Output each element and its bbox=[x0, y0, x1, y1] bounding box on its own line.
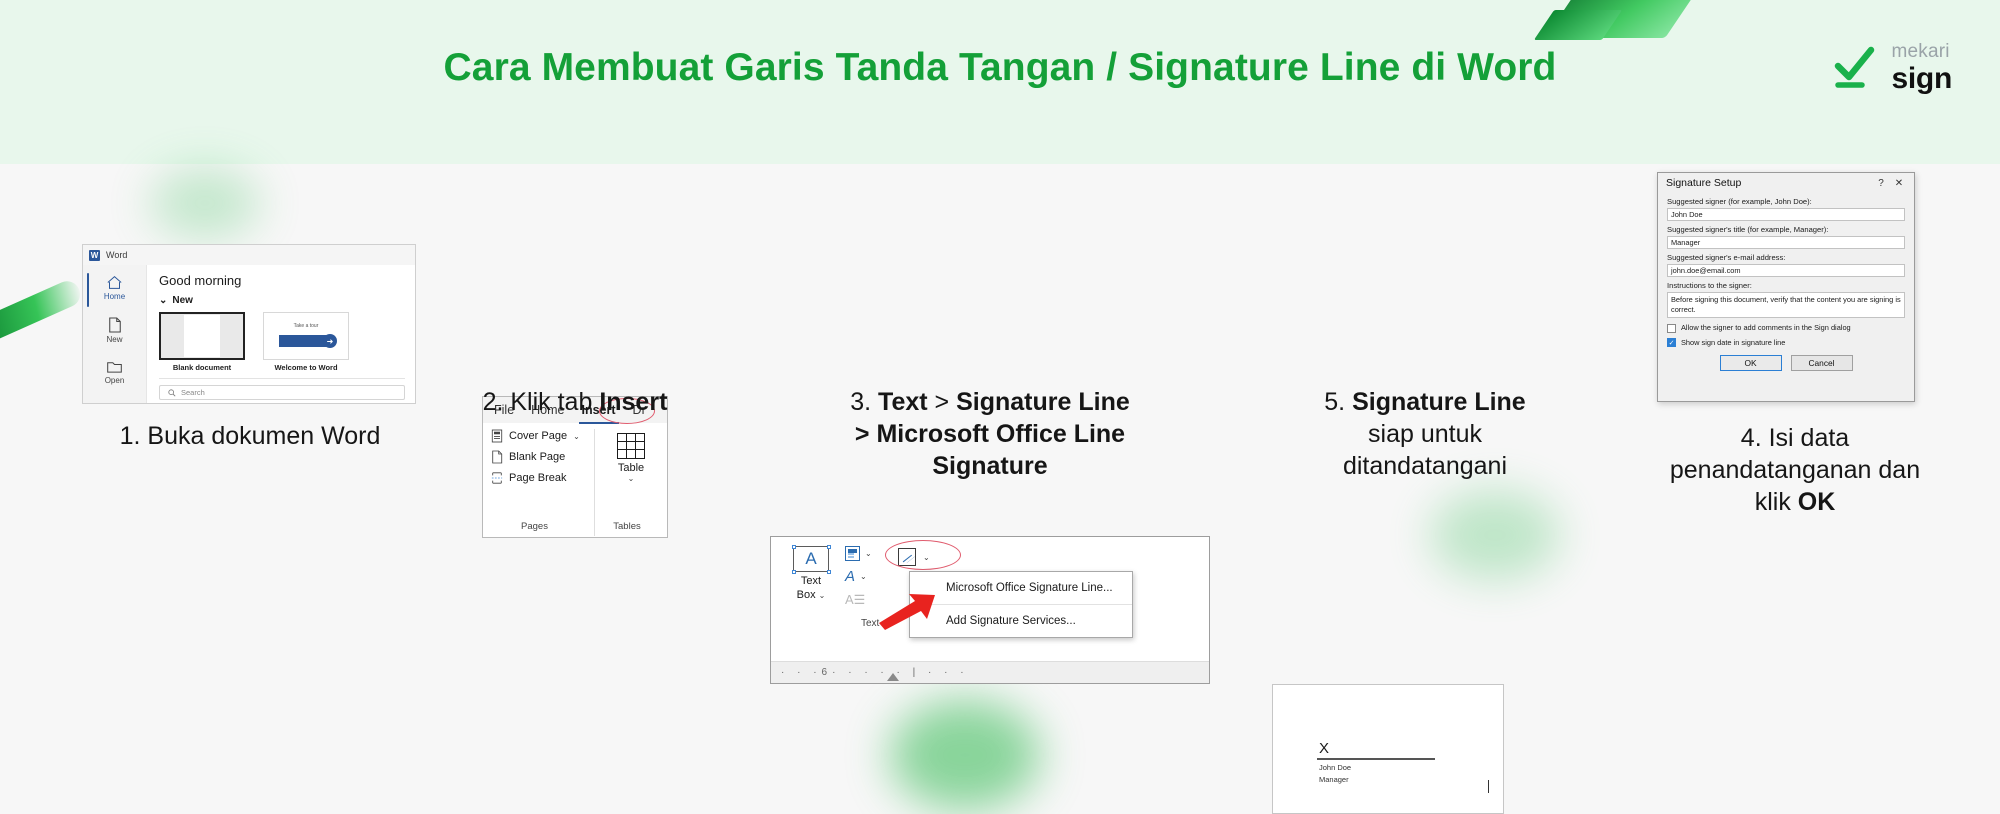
word-app-icon: W bbox=[89, 250, 100, 261]
sidebar-item-new-label: New bbox=[106, 335, 122, 344]
caption-step-5-line2: siap untuk bbox=[1368, 420, 1482, 448]
caption-step-2-prefix: 2. Klik tab bbox=[483, 388, 600, 416]
ribbon-group-tables: Table ⌄ Tables bbox=[595, 429, 667, 536]
search-placeholder: Search bbox=[181, 388, 205, 397]
welcome-to-word-label: Welcome to Word bbox=[263, 363, 349, 372]
sidebar-item-open-label: Open bbox=[105, 376, 125, 385]
chevron-down-icon[interactable]: ⌄ bbox=[628, 474, 635, 483]
ribbon-item-page-break-label: Page Break bbox=[509, 472, 566, 484]
caption-step-2-bold: Insert bbox=[599, 388, 667, 416]
close-icon[interactable]: ✕ bbox=[1890, 178, 1908, 189]
welcome-to-word-thumbnail: Take a tour ➜ bbox=[263, 312, 349, 360]
caption-step-5-line3: ditandatangani bbox=[1343, 452, 1507, 480]
sidebar-item-open[interactable]: Open bbox=[83, 360, 146, 385]
checkbox-row-show-sign-date[interactable]: ✓ Show sign date in signature line bbox=[1667, 338, 1905, 348]
ribbon-item-page-break[interactable]: Page Break bbox=[491, 471, 594, 485]
dialog-title: Signature Setup bbox=[1666, 177, 1872, 189]
menu-item-add-signature-services[interactable]: Add Signature Services... bbox=[910, 604, 1132, 637]
document-ruler: · · · 6 · · · · · | · · · bbox=[771, 661, 1209, 683]
caption-step-3-num: 3. bbox=[850, 388, 878, 416]
caption-step-4: 4. Isi data penandatanganan dan klik OK bbox=[1630, 422, 1960, 518]
word-left-rail: Home New Open bbox=[83, 265, 147, 404]
ribbon-item-cover-page[interactable]: Cover Page ⌄ bbox=[491, 429, 594, 443]
cover-page-icon bbox=[491, 429, 503, 443]
caption-step-5-num: 5. bbox=[1324, 388, 1352, 416]
text-box-label: TextBox ⌄ bbox=[797, 575, 826, 603]
quick-parts-icon bbox=[845, 546, 860, 561]
ribbon-item-cover-page-label: Cover Page bbox=[509, 430, 567, 442]
label-instructions-to-signer: Instructions to the signer: bbox=[1667, 281, 1905, 290]
screenshot-signature-line-menu: A TextBox ⌄ ⌄ A ⌄ A☰ bbox=[770, 536, 1210, 684]
input-instructions-to-signer[interactable]: Before signing this document, verify tha… bbox=[1667, 292, 1905, 318]
steps-stage: W Word Home New bbox=[0, 164, 2000, 800]
page-title: Cara Membuat Garis Tanda Tangan / Signat… bbox=[0, 46, 2000, 90]
page-icon bbox=[108, 317, 122, 333]
caption-step-4-ok-bold: OK bbox=[1798, 488, 1836, 516]
search-input[interactable]: Search bbox=[159, 385, 405, 400]
caption-step-3-line2: > Microsoft Office Line bbox=[855, 420, 1125, 448]
table-icon[interactable] bbox=[617, 433, 645, 459]
caption-step-3-sep: > bbox=[928, 388, 957, 416]
text-box-icon: A bbox=[793, 546, 829, 572]
ribbon-group-label-pages: Pages bbox=[482, 521, 590, 532]
caption-step-3-line3: Signature bbox=[932, 452, 1047, 480]
signature-signer-name: John Doe bbox=[1317, 763, 1435, 772]
template-tile-blank-document[interactable]: Blank document bbox=[159, 312, 245, 372]
header-banner: Cara Membuat Garis Tanda Tangan / Signat… bbox=[0, 0, 2000, 164]
word-titlebar: W Word bbox=[83, 245, 415, 265]
input-suggested-signer[interactable]: John Doe bbox=[1667, 208, 1905, 221]
sidebar-item-new[interactable]: New bbox=[83, 317, 146, 344]
indent-marker-icon[interactable] bbox=[887, 673, 899, 681]
home-icon bbox=[106, 275, 123, 290]
greeting-text: Good morning bbox=[159, 273, 405, 288]
ruler-number: 6 bbox=[822, 667, 833, 678]
word-app-name: Word bbox=[106, 250, 127, 260]
input-suggested-signer-email[interactable]: john.doe@email.com bbox=[1667, 264, 1905, 277]
caption-step-4-line2: penandatanganan dan bbox=[1670, 456, 1920, 484]
screenshot-document-signature-line: X John Doe Manager bbox=[1272, 684, 1504, 814]
dialog-titlebar: Signature Setup ? ✕ bbox=[1658, 173, 1914, 193]
dialog-signature-setup: Signature Setup ? ✕ Suggested signer (fo… bbox=[1657, 172, 1915, 402]
label-suggested-signer-email: Suggested signer's e-mail address: bbox=[1667, 253, 1905, 262]
caption-step-3-text-bold: Text bbox=[878, 388, 928, 416]
caption-step-4-line3-prefix: klik bbox=[1755, 488, 1798, 516]
blank-page-icon bbox=[491, 450, 503, 464]
help-icon[interactable]: ? bbox=[1872, 178, 1890, 189]
chevron-down-icon: ⌄ bbox=[865, 549, 872, 558]
blank-document-thumbnail bbox=[159, 312, 245, 360]
sidebar-item-home[interactable]: Home bbox=[83, 275, 146, 301]
chevron-down-icon: ⌄ bbox=[860, 572, 867, 581]
logo-text-sign: sign bbox=[1892, 64, 1952, 94]
sidebar-item-home-label: Home bbox=[104, 292, 125, 301]
caption-step-3-signature-line-bold: Signature Line bbox=[956, 388, 1130, 416]
search-icon bbox=[168, 389, 176, 397]
checkbox-row-allow-comments[interactable]: Allow the signer to add comments in the … bbox=[1667, 323, 1905, 333]
blank-document-label: Blank document bbox=[159, 363, 245, 372]
input-suggested-signer-title[interactable]: Manager bbox=[1667, 236, 1905, 249]
chevron-down-icon: ⌄ bbox=[819, 591, 826, 600]
ok-button[interactable]: OK bbox=[1720, 355, 1782, 371]
cancel-button[interactable]: Cancel bbox=[1791, 355, 1853, 371]
arrow-right-icon: ➜ bbox=[323, 334, 337, 348]
folder-icon bbox=[106, 360, 123, 374]
ribbon-item-blank-page-label: Blank Page bbox=[509, 451, 565, 463]
ribbon-group-label-tables: Tables bbox=[591, 521, 663, 532]
signature-line-block: X John Doe Manager bbox=[1317, 741, 1435, 784]
menu-item-microsoft-office-signature-line[interactable]: Microsoft Office Signature Line... bbox=[910, 572, 1132, 604]
ruler-marks-2: · · · · · | · · · bbox=[832, 667, 968, 678]
new-section-header[interactable]: ⌄ New bbox=[159, 295, 405, 306]
ribbon-item-blank-page[interactable]: Blank Page bbox=[491, 450, 594, 464]
new-section-label: New bbox=[172, 295, 193, 306]
text-cursor-icon bbox=[1488, 780, 1489, 793]
tour-progress-bar: ➜ bbox=[279, 335, 333, 347]
checkbox-show-sign-date[interactable]: ✓ bbox=[1667, 338, 1676, 347]
template-tile-welcome-to-word[interactable]: Take a tour ➜ Welcome to Word bbox=[263, 312, 349, 372]
drop-cap-icon: A☰ bbox=[845, 592, 865, 608]
ribbon-group-pages: Cover Page ⌄ Blank Page Page Break bbox=[483, 429, 595, 536]
checkbox-show-sign-date-label: Show sign date in signature line bbox=[1681, 338, 1785, 347]
signature-x-mark: X bbox=[1317, 741, 1435, 756]
caption-step-4-line1: 4. Isi data bbox=[1741, 424, 1849, 452]
logo-text-mekari: mekari bbox=[1892, 42, 1952, 61]
caption-step-3: 3. Text > Signature Line > Microsoft Off… bbox=[760, 386, 1220, 482]
caption-step-1: 1. Buka dokumen Word bbox=[20, 420, 480, 452]
red-pointer-arrow-icon bbox=[875, 589, 939, 631]
page-break-icon bbox=[491, 471, 503, 485]
take-a-tour-label: Take a tour bbox=[294, 323, 319, 329]
label-suggested-signer-title: Suggested signer's title (for example, M… bbox=[1667, 225, 1905, 234]
chevron-down-icon: ⌄ bbox=[573, 432, 580, 441]
wordart-icon: A bbox=[845, 568, 855, 585]
signature-rule bbox=[1317, 758, 1435, 760]
highlight-oval-signature-button bbox=[885, 540, 961, 570]
chevron-down-icon: ⌄ bbox=[159, 295, 167, 306]
table-button-label[interactable]: Table bbox=[618, 462, 644, 474]
caption-step-2: 2. Klik tab Insert bbox=[440, 386, 710, 418]
ruler-marks: · · · bbox=[781, 667, 822, 678]
checkbox-allow-comments[interactable] bbox=[1667, 324, 1676, 333]
ribbon-item-text-box[interactable]: A TextBox ⌄ bbox=[783, 546, 839, 649]
check-mark-icon bbox=[1830, 44, 1878, 92]
caption-step-5: 5. Signature Line siap untuk ditandatang… bbox=[1250, 386, 1600, 482]
checkbox-allow-comments-label: Allow the signer to add comments in the … bbox=[1681, 323, 1851, 332]
mekari-sign-logo: mekari sign bbox=[1830, 42, 1952, 94]
divider bbox=[159, 378, 405, 379]
screenshot-word-start-screen: W Word Home New bbox=[82, 244, 416, 404]
caption-step-5-bold: Signature Line bbox=[1352, 388, 1526, 416]
signature-dropdown-menu: Microsoft Office Signature Line... Add S… bbox=[909, 571, 1133, 638]
ribbon-item-wordart[interactable]: A ⌄ bbox=[845, 568, 893, 585]
signature-signer-title: Manager bbox=[1317, 775, 1435, 784]
label-suggested-signer: Suggested signer (for example, John Doe)… bbox=[1667, 197, 1905, 206]
